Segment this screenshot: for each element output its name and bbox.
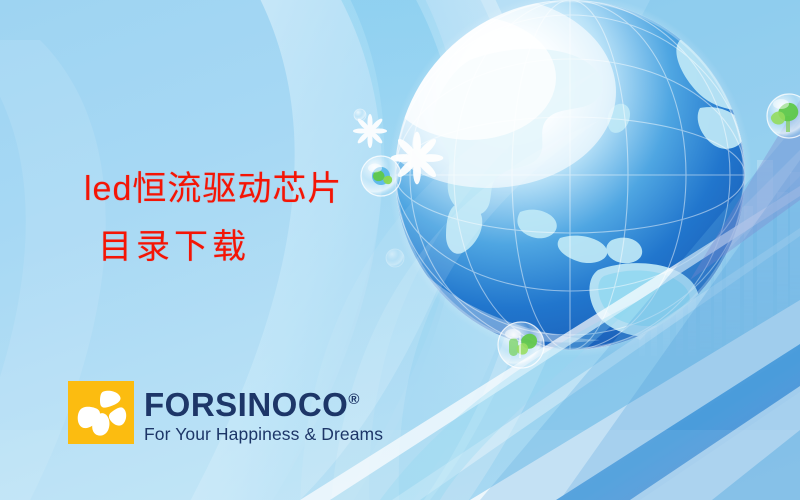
- bubble-tiny-icon: [354, 109, 366, 121]
- daisy-small-icon: [353, 114, 387, 148]
- logo-text-block: FORSINOCO® For Your Happiness & Dreams: [144, 381, 383, 445]
- daisy-large-icon: [391, 132, 444, 185]
- company-logo: FORSINOCO® For Your Happiness & Dreams: [68, 381, 383, 445]
- logo-mark: [68, 381, 134, 444]
- headline-line-2: 目录下载: [84, 218, 342, 276]
- bubble-globe-icon: [361, 156, 401, 196]
- poster-canvas: led恒流驱动芯片 目录下载 FORSINOCO® For Your Happi…: [0, 0, 800, 500]
- bubble-faint-icon: [386, 249, 404, 267]
- bubble-tree-icon: [767, 94, 800, 138]
- pinwheel-flower-icon: [68, 381, 134, 444]
- bubble-sprout-icon: [498, 322, 544, 368]
- logo-tagline: For Your Happiness & Dreams: [144, 423, 383, 445]
- logo-wordmark-text: FORSINOCO: [144, 386, 348, 423]
- headline-line-1: led恒流驱动芯片: [84, 160, 342, 218]
- headline-text: led恒流驱动芯片 目录下载: [84, 160, 342, 276]
- logo-wordmark: FORSINOCO®: [144, 383, 383, 422]
- registered-trademark-icon: ®: [348, 391, 359, 408]
